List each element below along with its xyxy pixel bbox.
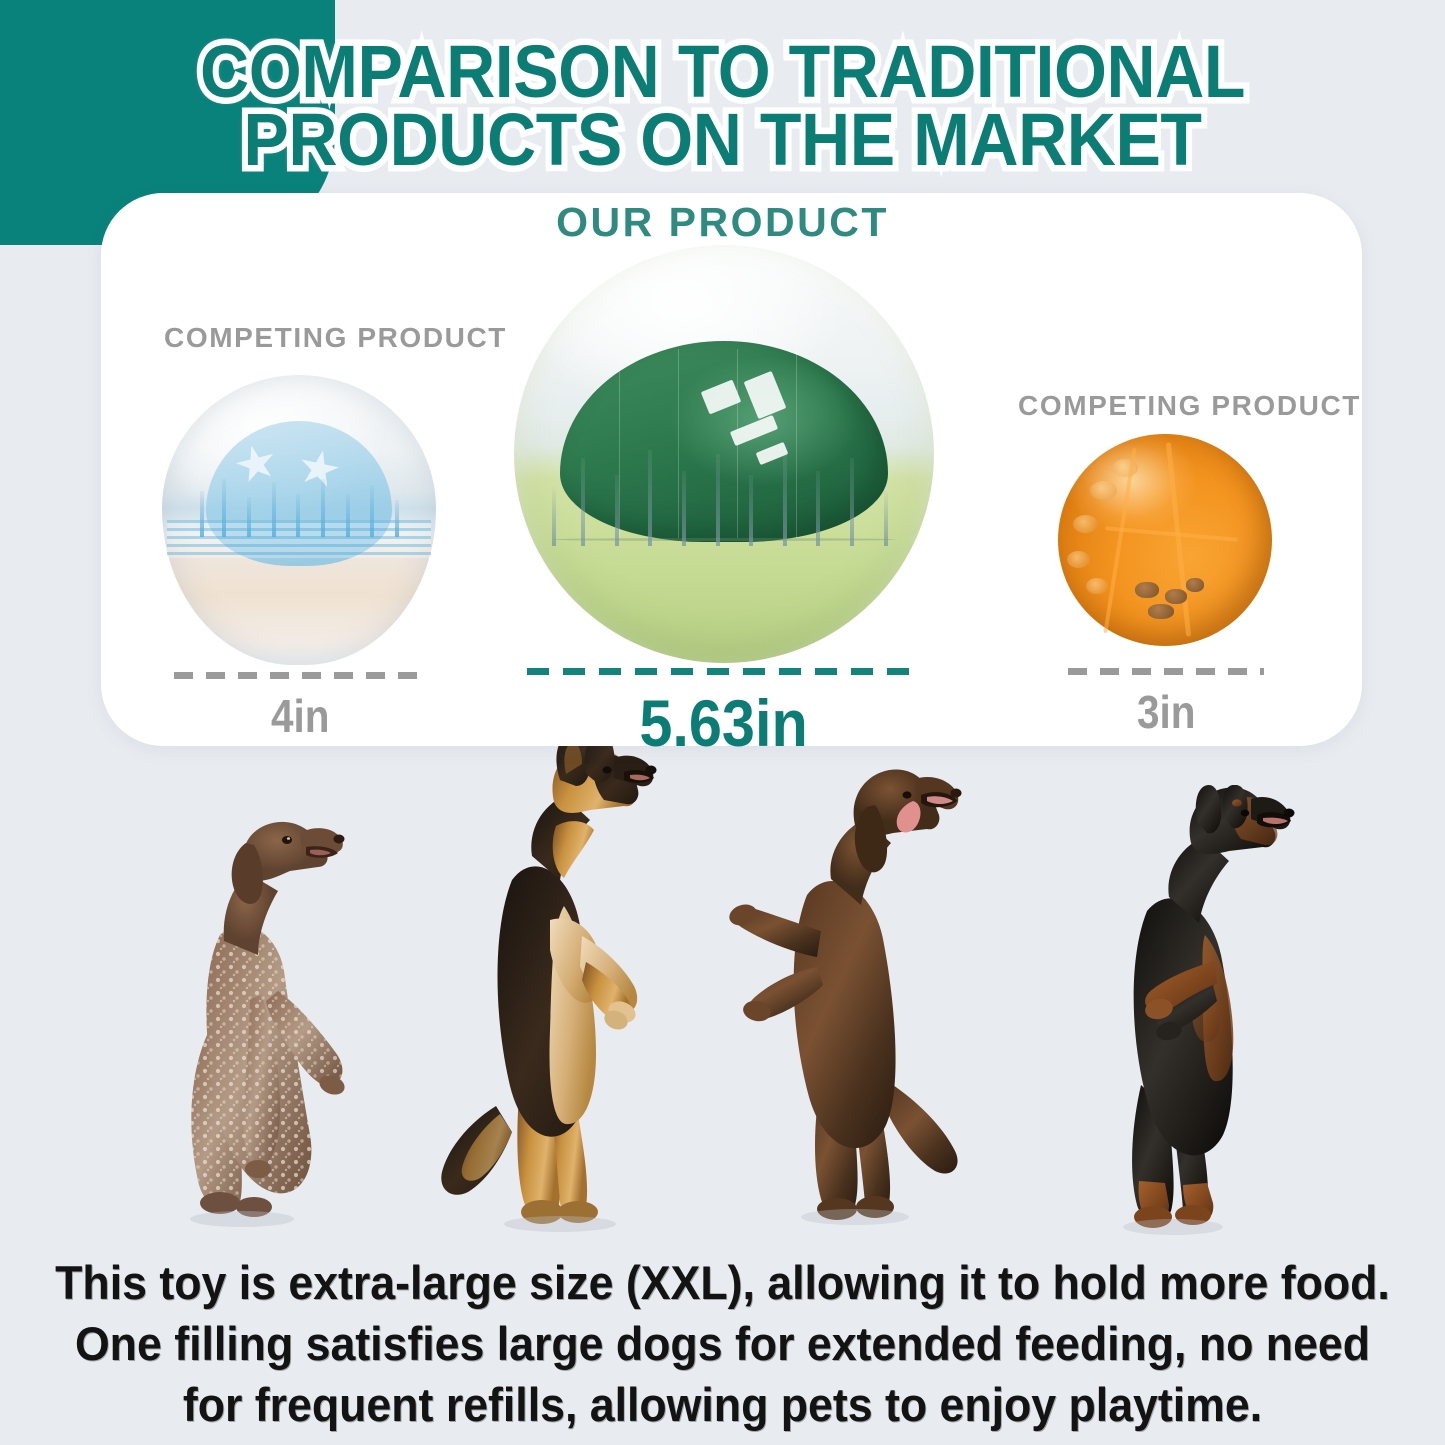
bristle: [395, 500, 399, 538]
bristle: [321, 479, 325, 537]
competitor-right-product-image: [1058, 434, 1272, 646]
bristle: [272, 482, 276, 537]
kibble: [1148, 604, 1174, 619]
size-ruler-dashed: [1068, 668, 1264, 675]
kibble: [1186, 578, 1204, 592]
competitor-left-label: COMPETING PRODUCT: [164, 322, 474, 354]
orange-dimpled-ball: [1058, 434, 1272, 646]
comparison-column-competitor-left: COMPETING PRODUCT: [164, 322, 474, 354]
bristle: [884, 487, 888, 546]
description-line-2: One filling satisfies large dogs for ext…: [36, 1313, 1409, 1374]
bristle: [783, 450, 787, 546]
dimple: [1067, 551, 1090, 568]
competitor-left-size: 4in: [271, 689, 329, 743]
our-product-size: 5.63in: [640, 685, 808, 761]
dimple: [1090, 481, 1117, 500]
dog-doberman-pinscher: [1065, 785, 1315, 1235]
dome-seam: [619, 349, 620, 538]
bristle: [816, 471, 820, 546]
competitor-left-measurement: 4in: [164, 672, 436, 743]
bristle: [552, 483, 556, 546]
kibble: [1135, 582, 1159, 598]
bristle: [346, 494, 350, 538]
competitor-left-product-image: [162, 375, 436, 665]
competitor-right-label: COMPETING PRODUCT: [1018, 390, 1318, 422]
description-line-3: for frequent refills, allowing pets to e…: [36, 1374, 1409, 1435]
dimple: [1086, 578, 1108, 594]
specular-highlight: [744, 371, 787, 419]
bristle: [296, 494, 300, 538]
specular-highlight: [701, 380, 742, 415]
infographic-page: COMPARISON TO TRADITIONAL PRODUCTS ON TH…: [0, 0, 1445, 1445]
bristle: [648, 450, 652, 546]
our-product-heading: OUR PRODUCT: [0, 199, 1445, 246]
bristle: [716, 454, 720, 546]
kibble: [1165, 589, 1187, 604]
dimple: [1073, 515, 1098, 533]
competitor-right-size: 3in: [1137, 685, 1195, 739]
bristle: [749, 475, 753, 546]
page-title-line-2: PRODUCTS ON THE MARKET: [58, 106, 1387, 174]
bristle: [581, 458, 585, 546]
dog-german-shorthaired-pointer: [150, 795, 410, 1235]
dome-seam: [678, 349, 679, 538]
competitor-right-measurement: 3in: [1018, 668, 1314, 739]
our-product-measurement: 5.63in: [524, 668, 924, 761]
bristle: [850, 458, 854, 546]
page-title: COMPARISON TO TRADITIONAL PRODUCTS ON TH…: [0, 38, 1445, 174]
page-title-line-1: COMPARISON TO TRADITIONAL: [58, 38, 1387, 106]
bristle: [370, 485, 374, 537]
dog-photo-row: [0, 735, 1445, 1255]
comparison-column-competitor-right: COMPETING PRODUCT: [1018, 390, 1318, 422]
green-dome-ball: [514, 245, 934, 663]
dome-seam: [796, 349, 797, 538]
size-ruler-dashed: [174, 672, 426, 679]
inner-green-dome: [560, 341, 888, 542]
bristle: [615, 475, 619, 546]
bristle: [682, 471, 686, 546]
rib: [1105, 526, 1238, 542]
size-ruler-dashed: [527, 668, 921, 675]
bristle: [200, 491, 204, 537]
bristle: [222, 479, 226, 537]
dog-chocolate-labrador: [715, 755, 1005, 1225]
description-line-1: This toy is extra-large size (XXL), allo…: [36, 1252, 1409, 1313]
description-text: This toy is extra-large size (XXL), allo…: [0, 1252, 1445, 1435]
bristle: [247, 497, 251, 538]
clear-blue-ball: [162, 375, 436, 665]
base-seam: [552, 538, 896, 541]
our-product-image: [514, 245, 934, 663]
dog-german-shepherd: [400, 730, 680, 1235]
